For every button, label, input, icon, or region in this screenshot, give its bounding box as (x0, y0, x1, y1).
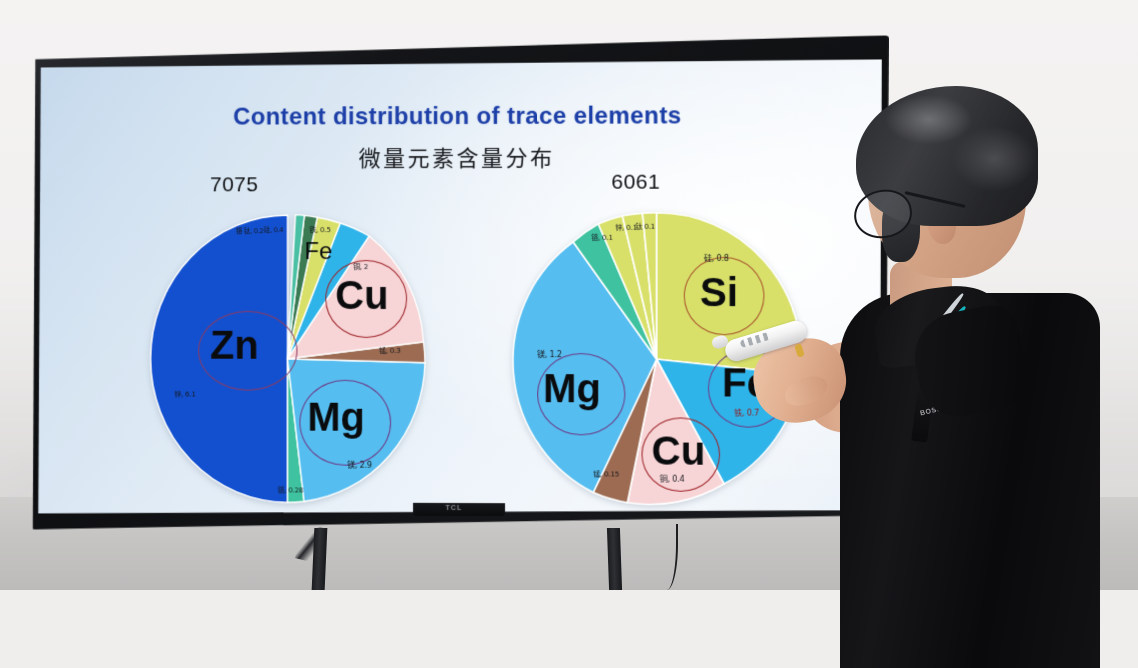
symbol-cu: Cu (335, 276, 388, 316)
label-6061-si: 硅, 0.8 (704, 253, 729, 264)
label-6061-fe: 铁, 0.7 (734, 408, 759, 419)
symbol-si: Si (700, 273, 738, 313)
label-7075-fe: 铁, 0.5 (309, 225, 330, 235)
television: Content distribution of trace elements 微… (31, 35, 889, 532)
eyeglass-temple (904, 191, 965, 208)
label-6061-cr: 铬, 0.1 (591, 233, 612, 243)
label-7075-si: 硅, 0.4 (264, 224, 284, 234)
label-6061-mg: 镁, 1.2 (537, 349, 562, 360)
label-6061-zn: 锌, 0.1 (615, 223, 637, 233)
symbol-cu-6061: Cu (652, 431, 706, 471)
eyeglasses (848, 184, 960, 236)
tv-brand-logo: TCL (432, 504, 476, 514)
label-6061-ti: 钛 0.1 (635, 222, 654, 232)
presentation-slide: Content distribution of trace elements 微… (37, 59, 882, 516)
tv-stand-leg-left (312, 528, 328, 590)
chart-title-6061: 6061 (611, 171, 660, 195)
label-7075-mn: 锰, 0.3 (379, 346, 400, 356)
chart-title-7075: 7075 (210, 173, 258, 197)
label-7075-cr: 铬, 0.28 (278, 485, 303, 495)
presenter: BOSS (820, 78, 1138, 590)
label-7075-ti: 钛, 0.2 (244, 225, 264, 235)
pie-chart-7075[interactable]: Zn 锌, 6.1 Cu 铜, 2 Mg 镁, 2.9 Fe 铁, 0.5 硅,… (149, 214, 427, 504)
label-6061-mn: 锰, 0.15 (593, 469, 619, 479)
label-6061-cu: 铜, 0.4 (660, 474, 685, 485)
label-7075-cu: 铜, 2 (353, 262, 368, 272)
label-7075-zn: 锌, 6.1 (174, 390, 195, 400)
label-7075-cr-top: 铬 (236, 225, 242, 235)
symbol-mg-6061: Mg (543, 369, 601, 409)
slide-title-chinese: 微量元素含量分布 (37, 140, 882, 174)
label-7075-mg: 镁, 2.9 (347, 460, 372, 471)
tv-stand-leg-right (607, 528, 622, 590)
symbol-mg: Mg (307, 398, 365, 438)
symbol-fe: Fe (304, 240, 332, 264)
tv-screen[interactable]: Content distribution of trace elements 微… (37, 59, 882, 516)
symbol-zn: Zn (210, 326, 259, 366)
slide-title-english: Content distribution of trace elements (37, 102, 882, 132)
